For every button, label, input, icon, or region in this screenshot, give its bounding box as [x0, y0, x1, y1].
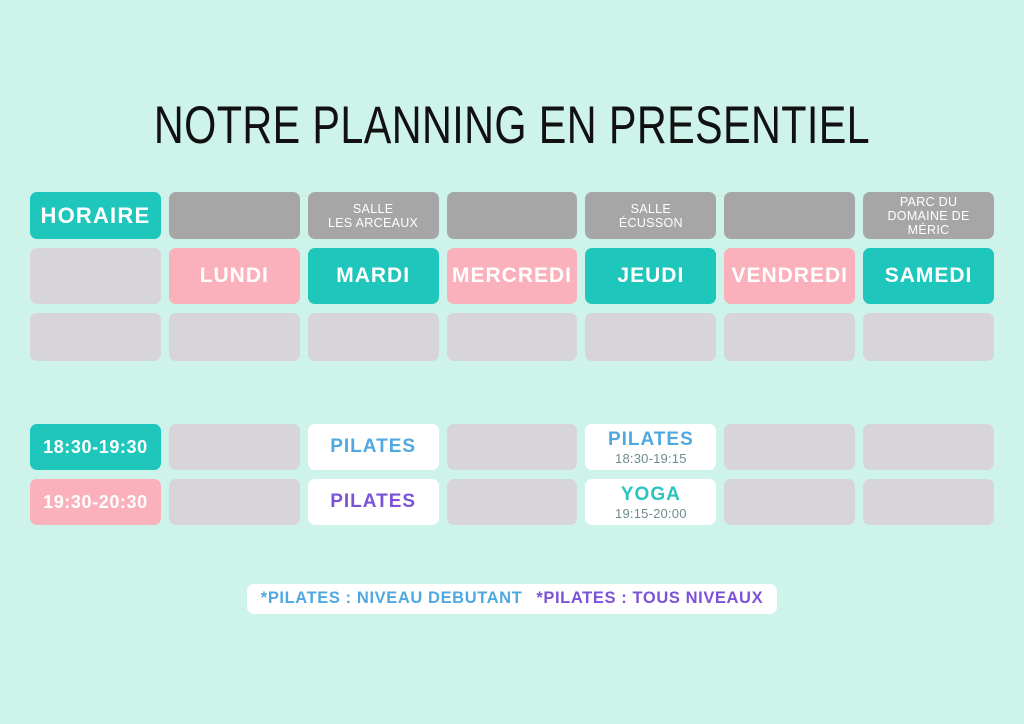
spacer-cell [447, 313, 578, 361]
spacer-cell [308, 313, 439, 361]
timeslot-cell-1: 18:30-19:30 [30, 424, 161, 470]
class-name-r1-jeudi: PILATES [608, 429, 694, 451]
venue-cell-mardi: SALLE LES ARCEAUX [308, 192, 439, 239]
schedule-grid: 18:30-19:30 PILATES PILATES 18:30-19:15 … [30, 424, 994, 525]
schedule-cell-r1-mardi[interactable]: PILATES [308, 424, 439, 470]
schedule-cell-r2-lundi [169, 479, 300, 525]
schedule-cell-r1-samedi [863, 424, 994, 470]
day-label-mercredi: MERCREDI [452, 264, 572, 288]
venue-line2-samedi: DOMAINE DE MÉRIC [863, 209, 994, 237]
class-name-r2-mardi: PILATES [330, 491, 416, 513]
day-cell-empty [30, 248, 161, 304]
spacer-cell [30, 313, 161, 361]
class-name-r1-mardi: PILATES [330, 436, 416, 458]
schedule-cell-r1-lundi [169, 424, 300, 470]
day-label-samedi: SAMEDI [885, 264, 973, 288]
venue-cell-samedi: PARC DU DOMAINE DE MÉRIC [863, 192, 994, 239]
spacer-cell [585, 313, 716, 361]
day-label-jeudi: JEUDI [617, 264, 684, 288]
schedule-cell-r2-samedi [863, 479, 994, 525]
venue-line2-mardi: LES ARCEAUX [324, 216, 422, 230]
horaire-label: HORAIRE [40, 203, 150, 229]
day-cell-jeudi: JEUDI [585, 248, 716, 304]
header-grid: HORAIRE SALLE LES ARCEAUX SALLE ÉCUSSON … [30, 192, 994, 361]
day-label-mardi: MARDI [336, 264, 410, 288]
legend: *PILATES : NIVEAU DEBUTANT *PILATES : TO… [0, 584, 1024, 614]
spacer-cell [724, 313, 855, 361]
spacer-cell [169, 313, 300, 361]
class-time-r2-jeudi: 19:15-20:00 [615, 506, 687, 521]
class-time-r1-jeudi: 18:30-19:15 [615, 451, 687, 466]
planning-poster: NOTRE PLANNING EN PRESENTIEL HORAIRE SAL… [0, 0, 1024, 724]
schedule-cell-r2-mardi[interactable]: PILATES [308, 479, 439, 525]
timeslot-cell-2: 19:30-20:30 [30, 479, 161, 525]
schedule-cell-r1-vendredi [724, 424, 855, 470]
schedule-cell-r1-mercredi [447, 424, 578, 470]
timeslot-label-2: 19:30-20:30 [43, 492, 148, 513]
day-cell-samedi: SAMEDI [863, 248, 994, 304]
day-cell-lundi: LUNDI [169, 248, 300, 304]
timeslot-label-1: 18:30-19:30 [43, 437, 148, 458]
schedule-cell-r2-mercredi [447, 479, 578, 525]
legend-box: *PILATES : NIVEAU DEBUTANT *PILATES : TO… [247, 584, 777, 614]
venue-cell-lundi [169, 192, 300, 239]
horaire-header-cell: HORAIRE [30, 192, 161, 239]
venue-cell-mercredi [447, 192, 578, 239]
day-cell-mercredi: MERCREDI [447, 248, 578, 304]
page-title: NOTRE PLANNING EN PRESENTIEL [113, 95, 912, 157]
venue-line1-jeudi: SALLE [627, 202, 675, 216]
venue-line1-samedi: PARC DU [896, 195, 961, 209]
spacer-cell [863, 313, 994, 361]
class-name-r2-jeudi: YOGA [621, 484, 681, 506]
day-cell-mardi: MARDI [308, 248, 439, 304]
legend-beginner: *PILATES : NIVEAU DEBUTANT [261, 589, 523, 608]
venue-cell-vendredi [724, 192, 855, 239]
day-label-vendredi: VENDREDI [731, 264, 848, 288]
venue-cell-jeudi: SALLE ÉCUSSON [585, 192, 716, 239]
schedule-cell-r2-vendredi [724, 479, 855, 525]
day-label-lundi: LUNDI [200, 264, 269, 288]
day-cell-vendredi: VENDREDI [724, 248, 855, 304]
venue-line1-mardi: SALLE [349, 202, 397, 216]
schedule-cell-r2-jeudi[interactable]: YOGA 19:15-20:00 [585, 479, 716, 525]
venue-line2-jeudi: ÉCUSSON [615, 216, 687, 230]
schedule-cell-r1-jeudi[interactable]: PILATES 18:30-19:15 [585, 424, 716, 470]
legend-all-levels: *PILATES : TOUS NIVEAUX [536, 589, 763, 608]
